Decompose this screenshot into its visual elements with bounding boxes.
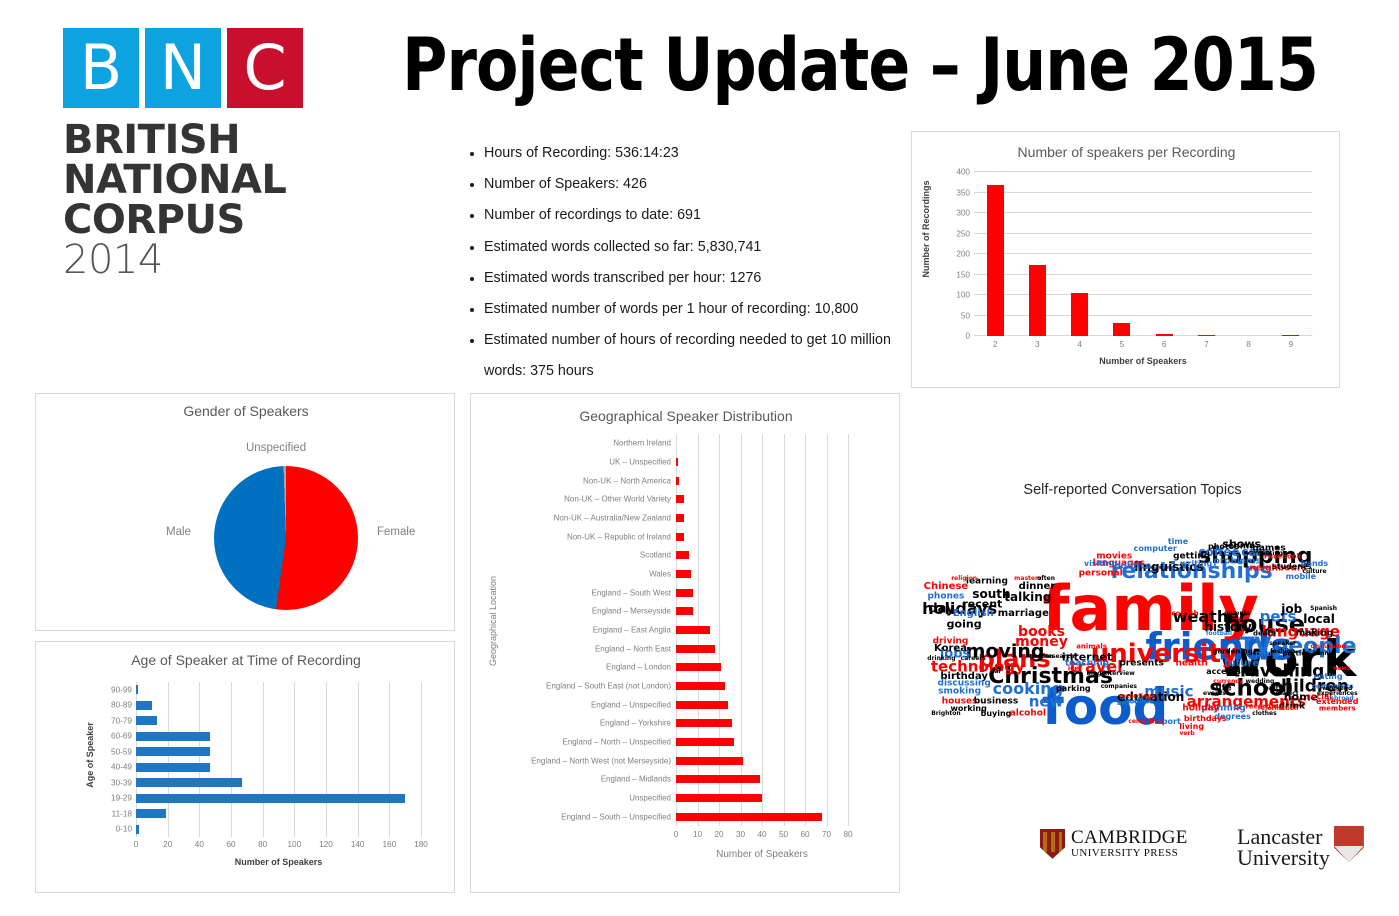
bar	[1282, 335, 1299, 336]
stat-item: Number of recordings to date: 691	[484, 200, 910, 231]
wordcloud-word: speaker	[1269, 641, 1296, 647]
lancaster-crest-icon	[1334, 826, 1364, 862]
bar	[136, 685, 138, 694]
lancaster-university-logo: Lancaster University	[1237, 826, 1364, 868]
bnc-logo-year: 2014	[63, 240, 313, 280]
wordcloud-word: currency	[1213, 679, 1243, 685]
wordcloud-word: bed	[1117, 701, 1130, 707]
bar	[676, 645, 715, 653]
y-tick-label: Scotland	[483, 551, 671, 560]
wordcloud-word: presents	[1119, 660, 1164, 669]
lancaster-line-2: University	[1237, 847, 1330, 868]
x-tick-label: 20	[163, 840, 172, 849]
pie-wrapper	[214, 466, 358, 610]
pie-slices	[214, 466, 358, 610]
pie-label-unspecified: Unspecified	[246, 442, 306, 454]
bar	[987, 185, 1004, 336]
y-tick-label: 100	[940, 291, 970, 300]
wordcloud-word: garden	[1030, 654, 1054, 660]
y-tick-label: Non-UK – North America	[483, 476, 671, 485]
bnc-tile-b: B	[63, 28, 139, 108]
bar	[676, 626, 710, 634]
stat-item: Estimated words transcribed per hour: 12…	[484, 263, 910, 294]
y-tick-label: Non-UK – Australia/New Zealand	[483, 514, 671, 523]
y-tick-label: England – North – Unspecified	[483, 738, 671, 747]
x-tick-label: 4	[1077, 340, 1082, 349]
x-tick-label: 40	[757, 830, 766, 839]
bnc-logo: B N C BRITISH NATIONAL CORPUS 2014	[63, 28, 313, 298]
gridline	[827, 434, 828, 826]
x-tick-label: 100	[287, 840, 301, 849]
y-tick-label: 50-59	[92, 747, 132, 756]
bar	[676, 813, 822, 821]
wordcloud-word: films	[1234, 667, 1259, 676]
speakers-per-recording-chart: Number of speakers per Recording 0501001…	[911, 131, 1340, 388]
wordcloud-word: drinking	[927, 656, 955, 662]
wordcloud-word: new	[1029, 694, 1064, 709]
bar	[676, 458, 678, 466]
x-tick-label: 120	[319, 840, 333, 849]
gridline	[974, 212, 1312, 213]
y-axis-labels: England – South – UnspecifiedUnspecified…	[483, 434, 671, 826]
wordcloud-word: Scottish	[1166, 611, 1198, 618]
y-tick-label: 350	[940, 188, 970, 197]
y-tick-label: England – Midlands	[483, 775, 671, 784]
wordcloud-word: personal	[1079, 570, 1123, 579]
gridline	[974, 294, 1312, 295]
wordcloud-word: dinner	[1019, 582, 1056, 592]
wordcloud-word: discussion	[1310, 644, 1345, 650]
y-tick-label: 0	[940, 332, 970, 341]
wordcloud-word: phones	[927, 592, 964, 601]
x-tick-label: 140	[351, 840, 365, 849]
age-of-speaker-chart: Age of Speaker at Time of Recording 0-10…	[35, 641, 455, 893]
cambridge-university-press-logo: CAMBRIDGE UNIVERSITY PRESS	[1040, 828, 1188, 859]
y-tick-label: 0-10	[92, 825, 132, 834]
y-axis-title: Age of Speaker	[85, 695, 95, 815]
wordcloud-word: football	[1206, 631, 1232, 637]
gridline	[199, 682, 200, 837]
gridline	[974, 171, 1312, 172]
wordcloud-word: job	[1281, 603, 1302, 615]
wordcloud-word: marriage	[998, 609, 1049, 619]
gridline	[974, 315, 1312, 316]
gridline	[741, 434, 742, 826]
x-tick-label: 80	[843, 830, 852, 839]
wordcloud-word: Chinese	[924, 582, 969, 592]
x-tick-label: 40	[195, 840, 204, 849]
y-tick-label: England – North West (not Merseyside)	[483, 756, 671, 765]
y-tick-label: 80-89	[92, 701, 132, 710]
bar	[676, 533, 684, 541]
x-axis-labels: 020406080100120140160180	[136, 840, 421, 854]
bnc-logo-line-2: NATIONAL	[63, 160, 313, 200]
y-tick-label: 250	[940, 229, 970, 238]
wordcloud-title: Self-reported Conversation Topics	[905, 482, 1360, 498]
bar	[676, 514, 684, 522]
stat-item: Estimated number of hours of recording n…	[484, 325, 910, 387]
wordcloud-word: companies	[1101, 684, 1137, 690]
bar	[136, 747, 210, 756]
bar	[1029, 265, 1046, 336]
plot-area	[136, 682, 421, 837]
bar	[676, 495, 684, 503]
gridline	[762, 434, 763, 826]
chart-title: Number of speakers per Recording	[912, 144, 1341, 160]
chart-title: Age of Speaker at Time of Recording	[36, 652, 456, 668]
wordcloud-word: Brighton	[931, 711, 960, 717]
wordcloud-word: animals	[1076, 643, 1107, 650]
x-axis-title: Number of Speakers	[974, 356, 1312, 366]
y-tick-label: 40-49	[92, 763, 132, 772]
x-tick-label: 180	[414, 840, 428, 849]
bnc-tile-n: N	[145, 28, 221, 108]
y-tick-label: England – East Anglia	[483, 626, 671, 635]
x-tick-label: 8	[1246, 340, 1251, 349]
wordcloud-word: tennis	[1313, 651, 1334, 657]
wordcloud-word: wedding	[1245, 679, 1274, 685]
wordcloud-word: interview	[1103, 671, 1135, 677]
y-tick-label: England – Unspecified	[483, 700, 671, 709]
plot-area	[974, 172, 1312, 336]
y-tick-label: 70-79	[92, 716, 132, 725]
wordcloud-word: parking	[1056, 685, 1091, 693]
y-tick-label: England – London	[483, 663, 671, 672]
lancaster-wordmark: Lancaster University	[1237, 826, 1330, 868]
bnc-logo-line-1: BRITISH	[63, 120, 313, 160]
x-tick-label: 0	[134, 840, 139, 849]
stat-item: Number of Speakers: 426	[484, 169, 910, 200]
chart-title: Geographical Speaker Distribution	[471, 408, 901, 424]
stat-item: Estimated words collected so far: 5,830,…	[484, 232, 910, 263]
chart-title: Gender of Speakers	[36, 403, 456, 419]
y-tick-label: 400	[940, 168, 970, 177]
geographical-speaker-distribution-chart: Geographical Speaker Distribution Englan…	[470, 393, 900, 893]
wordcloud-word: meeting	[1255, 551, 1283, 557]
bar	[1071, 293, 1088, 336]
y-tick-label: Unspecified	[483, 794, 671, 803]
y-tick-label: England – North East	[483, 644, 671, 653]
gridline	[326, 682, 327, 837]
gridline	[719, 434, 720, 826]
wordcloud-word: celebrities	[1128, 719, 1164, 725]
wordcloud-word: buying	[981, 710, 1012, 718]
bnc-logo-wordmark: BRITISH NATIONAL CORPUS 2014	[63, 120, 313, 280]
wordcloud-word: parents	[1224, 611, 1250, 617]
wordcloud-word: alcohol	[1010, 710, 1046, 719]
x-tick-label: 6	[1162, 340, 1167, 349]
bar	[676, 794, 762, 802]
bnc-logo-line-3: CORPUS	[63, 200, 313, 240]
lancaster-line-1: Lancaster	[1237, 826, 1330, 847]
y-tick-label: Non-UK – Republic of Ireland	[483, 532, 671, 541]
page-title: Project Update – June 2015	[390, 18, 1330, 114]
pie-label-female: Female	[377, 526, 415, 538]
y-tick-label: England – South West	[483, 588, 671, 597]
wordcloud-word: ice	[1068, 666, 1079, 673]
gridline	[389, 682, 390, 837]
wordcloud-word: gardening	[1212, 648, 1252, 655]
pie-label-male: Male	[166, 526, 191, 538]
y-tick-label: 200	[940, 250, 970, 259]
gridline	[294, 682, 295, 837]
bar	[676, 775, 760, 783]
wordcloud-word: writing	[1180, 560, 1212, 568]
y-tick-label: England – South East (not London)	[483, 682, 671, 691]
gridline	[263, 682, 264, 837]
x-tick-label: 0	[674, 830, 679, 839]
bnc-logo-tiles: B N C	[63, 28, 313, 108]
wordcloud-word: local	[1303, 613, 1335, 625]
wordcloud-word: car	[991, 669, 1002, 675]
x-tick-label: 50	[779, 830, 788, 839]
x-tick-label: 80	[258, 840, 267, 849]
cambridge-wordmark: CAMBRIDGE UNIVERSITY PRESS	[1071, 828, 1188, 859]
x-tick-label: 3	[1035, 340, 1040, 349]
stats-ul: Hours of Recording: 536:14:23Number of S…	[462, 138, 910, 388]
gridline	[168, 682, 169, 837]
y-tick-label: England – Yorkshire	[483, 719, 671, 728]
bar	[136, 732, 210, 741]
gridline	[848, 434, 849, 826]
wordcloud-word: Korea	[934, 644, 967, 654]
wordcloud-word: making	[1296, 630, 1333, 639]
y-tick-label: UK – Unspecified	[483, 458, 671, 467]
gridline	[974, 335, 1312, 336]
x-axis-labels: 23456789	[974, 340, 1312, 354]
wordcloud-canvas: familyworkfoodfriendsuniversityrelations…	[905, 504, 1360, 754]
wordcloud-word: eating	[1314, 673, 1343, 681]
cambridge-line-1: CAMBRIDGE	[1071, 828, 1188, 848]
gridline	[974, 192, 1312, 193]
gridline	[784, 434, 785, 826]
gridline	[805, 434, 806, 826]
x-axis-title: Number of Speakers	[676, 849, 848, 860]
wordcloud-word: verb	[1179, 731, 1194, 737]
bar	[676, 477, 679, 485]
partner-logos: CAMBRIDGE UNIVERSITY PRESS Lancaster Uni…	[1040, 826, 1360, 878]
wordcloud-word: often	[1037, 576, 1055, 582]
y-tick-label: 19-29	[92, 794, 132, 803]
y-tick-label: 60-69	[92, 732, 132, 741]
x-tick-label: 20	[714, 830, 723, 839]
wordcloud-word: Spanish	[1310, 606, 1337, 612]
y-axis-title: Number of Recordings	[921, 169, 931, 289]
wordcloud-word: going	[947, 619, 982, 630]
x-tick-label: 30	[736, 830, 745, 839]
gridline	[421, 682, 422, 837]
bar	[1198, 335, 1215, 336]
x-tick-label: 9	[1289, 340, 1294, 349]
x-tick-label: 160	[382, 840, 396, 849]
y-axis-labels: 0-1011-1819-2930-3940-4950-5960-6970-798…	[92, 682, 132, 837]
gridline	[974, 274, 1312, 275]
wordcloud-word: abroad	[1330, 696, 1354, 702]
y-tick-label: England – Merseyside	[483, 607, 671, 616]
bar	[1113, 323, 1130, 336]
bar	[136, 825, 139, 834]
bar	[676, 682, 725, 690]
y-axis-labels: 050100150200250300350400	[938, 172, 970, 336]
y-tick-label: 50	[940, 311, 970, 320]
wordcloud-word: clothes	[1252, 711, 1277, 717]
wordcloud-word: talking	[1004, 591, 1051, 603]
bar	[676, 738, 734, 746]
y-tick-label: 11-18	[92, 809, 132, 818]
gender-of-speakers-chart: Gender of Speakers Unspecified Male Fema…	[35, 393, 455, 631]
wordcloud-word: death	[1253, 631, 1276, 638]
y-tick-label: Northern Ireland	[483, 439, 671, 448]
y-tick-label: 150	[940, 270, 970, 279]
wordcloud-word: day	[928, 603, 954, 616]
wordcloud-word: time	[1168, 538, 1188, 546]
x-axis-labels: 01020304050607080	[676, 830, 848, 844]
bar	[136, 763, 210, 772]
cambridge-crest-icon	[1040, 829, 1065, 859]
bnc-tile-c: C	[227, 28, 303, 108]
y-tick-label: 300	[940, 209, 970, 218]
bar	[136, 794, 405, 803]
wordcloud-word: china	[1228, 542, 1255, 551]
wordcloud-word: computer	[1134, 545, 1177, 553]
x-tick-label: 5	[1120, 340, 1125, 349]
bar	[676, 663, 721, 671]
gridline	[231, 682, 232, 837]
bar	[136, 778, 242, 787]
gridline	[974, 233, 1312, 234]
gridline	[974, 253, 1312, 254]
x-tick-label: 7	[1204, 340, 1209, 349]
wordcloud-word: religion	[951, 576, 977, 582]
wordcloud-word: recordings	[1119, 694, 1155, 700]
bar	[136, 809, 166, 818]
wordcloud-word: visiting	[1084, 560, 1117, 568]
bar	[676, 757, 743, 765]
y-tick-label: England – South – Unspecified	[483, 812, 671, 821]
wordcloud-word: news	[1333, 666, 1350, 672]
bar	[1156, 334, 1173, 336]
x-tick-label: 60	[226, 840, 235, 849]
gridline	[358, 682, 359, 837]
project-stats-list: Hours of Recording: 536:14:23Number of S…	[462, 138, 910, 388]
bar	[676, 701, 728, 709]
wordcloud-word: culture	[1302, 569, 1326, 575]
y-tick-label: Wales	[483, 570, 671, 579]
cambridge-line-2: UNIVERSITY PRESS	[1071, 848, 1188, 860]
y-axis-title: Geographical Location	[488, 551, 498, 691]
wordcloud-word: members	[1319, 706, 1356, 713]
wordcloud-word: fashion	[1270, 649, 1295, 655]
y-tick-label: 30-39	[92, 778, 132, 787]
wordcloud-word: careers	[961, 656, 986, 662]
bar	[676, 719, 732, 727]
wordcloud-word: smoking	[938, 687, 981, 696]
y-tick-label: 90-99	[92, 685, 132, 694]
x-tick-label: 70	[822, 830, 831, 839]
x-axis-title: Number of Speakers	[136, 857, 421, 867]
conversation-topics-wordcloud: Self-reported Conversation Topics family…	[905, 470, 1360, 780]
wordcloud-word: events	[1203, 691, 1226, 697]
plot-area	[676, 434, 848, 826]
wordcloud-word: dialect	[1276, 691, 1299, 697]
x-tick-label: 10	[693, 830, 702, 839]
y-tick-label: Non-UK – Other World Variety	[483, 495, 671, 504]
stat-item: Estimated number of words per 1 hour of …	[484, 294, 910, 325]
wordcloud-word: health	[1175, 660, 1207, 669]
x-tick-label: 60	[800, 830, 809, 839]
bar	[136, 716, 157, 725]
bar	[676, 589, 693, 597]
bar	[676, 570, 691, 578]
bar	[136, 701, 152, 710]
wordcloud-word: money	[1015, 635, 1068, 649]
stat-item: Hours of Recording: 536:14:23	[484, 138, 910, 169]
x-tick-label: 2	[993, 340, 998, 349]
bar	[676, 607, 693, 615]
bar	[676, 551, 689, 559]
